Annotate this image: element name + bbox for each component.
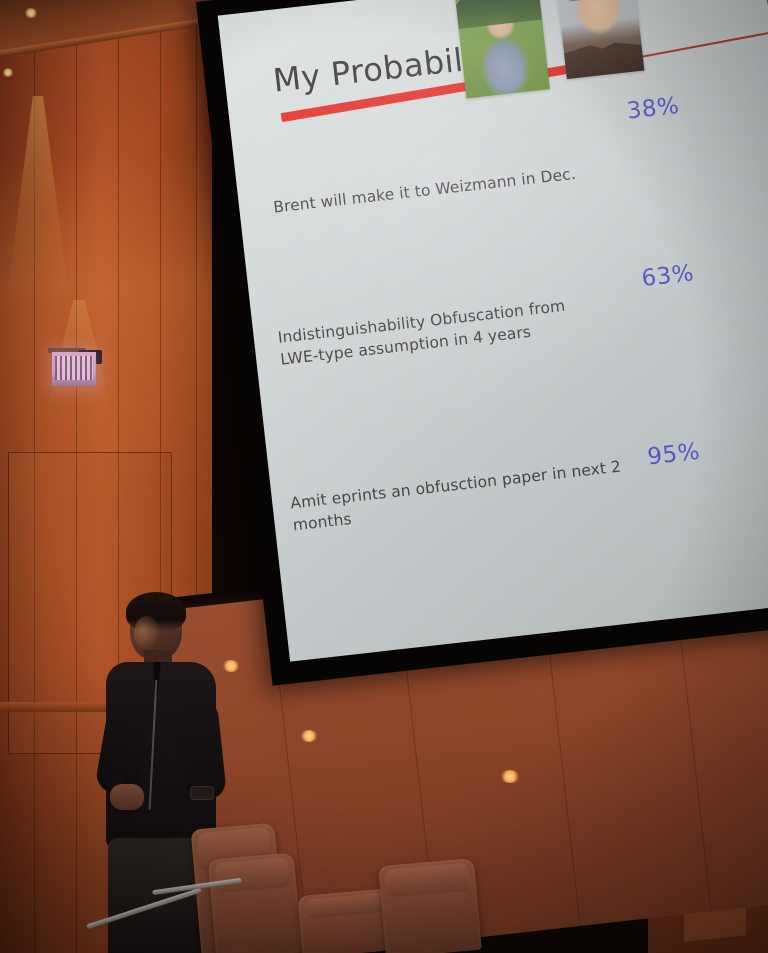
auditorium-chair <box>208 852 302 953</box>
probability-row-percent: 95% <box>646 439 701 471</box>
probability-row-percent: 38% <box>625 93 680 125</box>
exit-sign-face <box>55 356 93 380</box>
lecture-hall-photo: My Probabilities Brent will make it to W… <box>0 0 768 953</box>
auditorium-chair <box>378 858 482 953</box>
ceiling-downlight <box>24 8 38 18</box>
stage-uplight <box>300 730 318 742</box>
exit-sign <box>52 352 96 386</box>
probability-row-text: Brent will make it to Weizmann in Dec. <box>272 160 602 219</box>
presenter-hand <box>110 784 144 810</box>
portrait-photo-outdoor <box>453 0 550 98</box>
probability-row-text: Indistinguishability Obfuscation from LW… <box>277 292 592 371</box>
presentation-slide: My Probabilities Brent will make it to W… <box>218 0 768 662</box>
probability-row-text: Amit eprints an obfusction paper in next… <box>289 455 632 538</box>
portrait-photo-headshot <box>554 0 645 79</box>
stage-uplight <box>500 770 520 783</box>
presenter-face <box>134 616 160 650</box>
ceiling-downlight <box>2 68 14 77</box>
projection-screen-frame: My Probabilities Brent will make it to W… <box>196 0 768 686</box>
presenter-wristwatch <box>190 786 214 800</box>
probability-row-percent: 63% <box>640 260 695 292</box>
